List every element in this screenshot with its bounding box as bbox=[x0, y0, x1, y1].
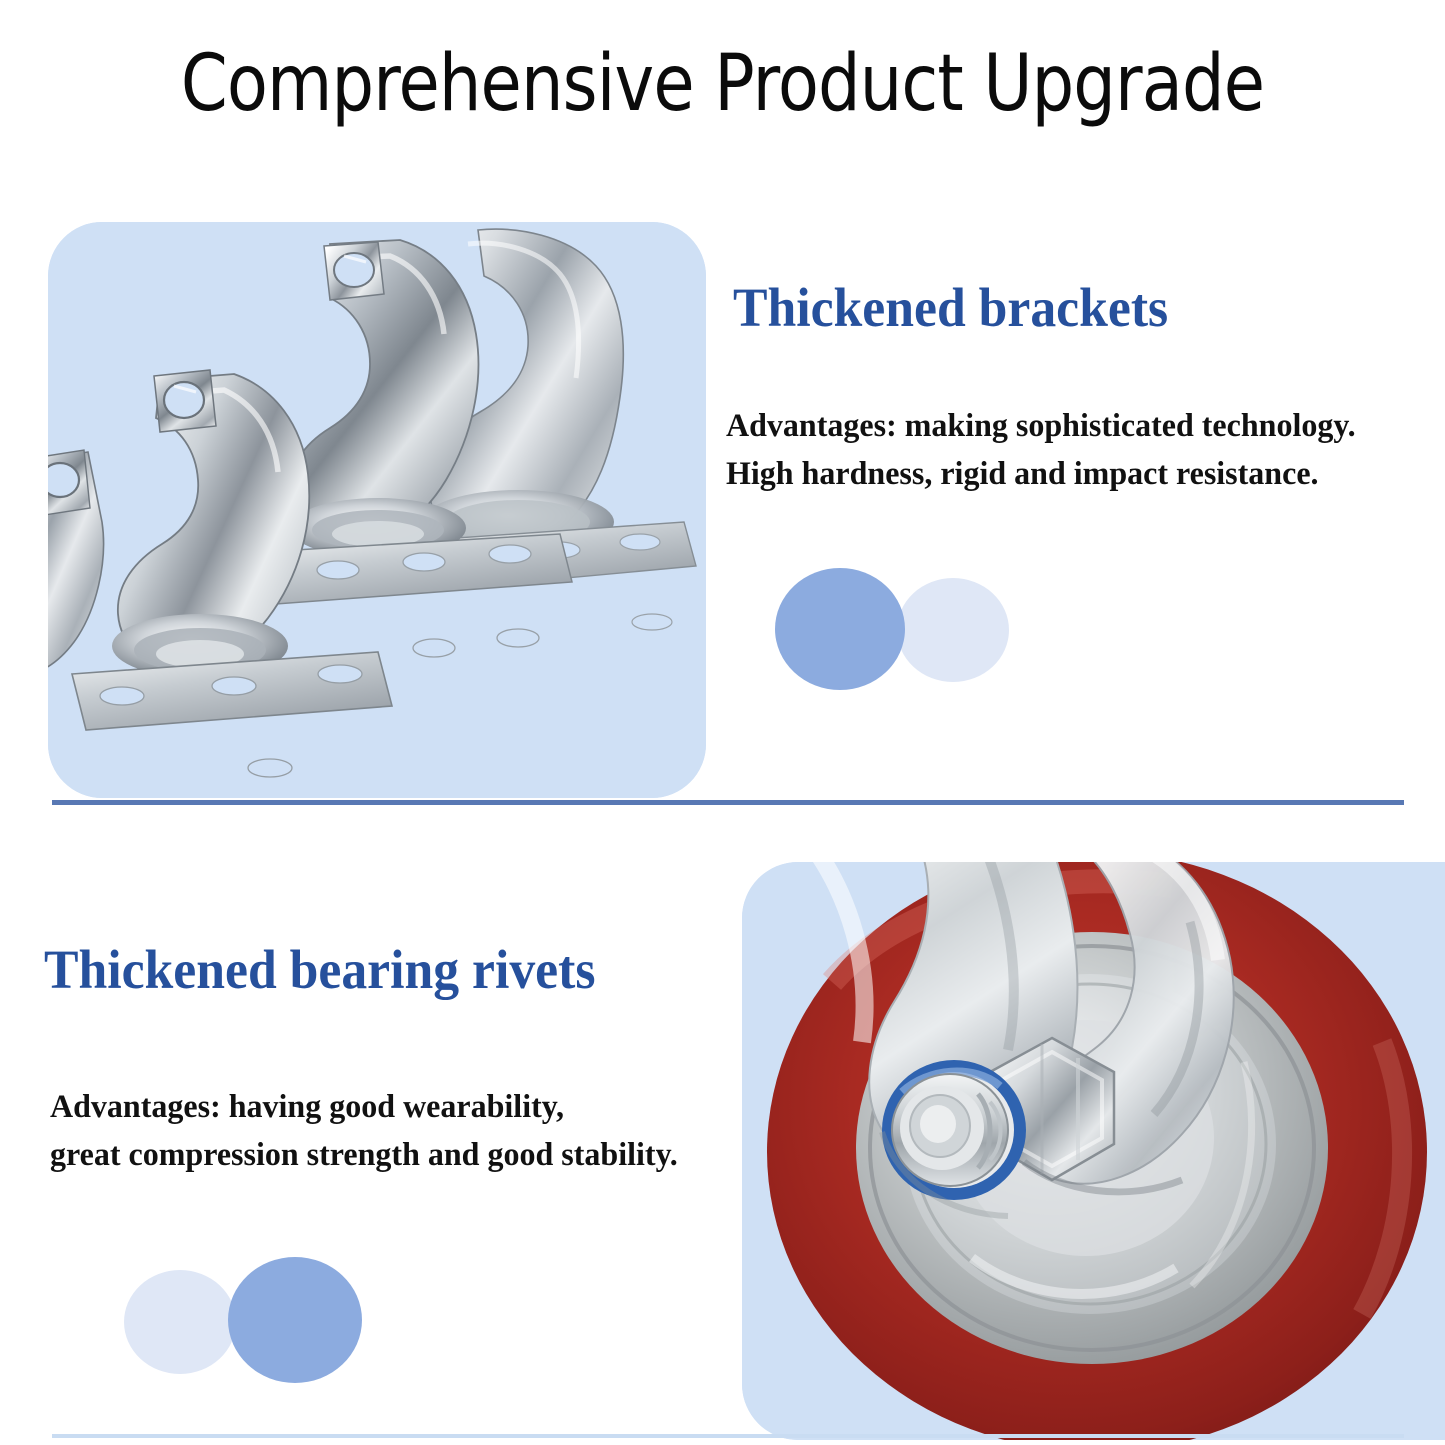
decorative-dot-blue bbox=[228, 1257, 362, 1383]
caster-brackets-photo bbox=[48, 222, 706, 798]
body-line: Advantages: making sophisticated technol… bbox=[726, 402, 1356, 450]
body-line: Advantages: having good wearability, bbox=[50, 1083, 678, 1131]
page-title: Comprehensive Product Upgrade bbox=[101, 36, 1344, 132]
bearing-rivet-photo bbox=[742, 862, 1445, 1440]
body-line: great compression strength and good stab… bbox=[50, 1131, 678, 1179]
decorative-dot-pale bbox=[897, 578, 1009, 682]
section-heading-thickened-bearing-rivets: Thickened bearing rivets bbox=[44, 940, 595, 1000]
body-line: High hardness, rigid and impact resistan… bbox=[726, 450, 1356, 498]
decorative-dot-pale bbox=[124, 1270, 236, 1374]
section-heading-thickened-brackets: Thickened brackets bbox=[733, 278, 1168, 338]
bottom-rule bbox=[52, 1434, 1404, 1438]
section-body-thickened-brackets: Advantages: making sophisticated technol… bbox=[726, 402, 1356, 498]
decorative-dot-blue bbox=[775, 568, 905, 690]
section-body-thickened-bearing-rivets: Advantages: having good wearability, gre… bbox=[50, 1083, 678, 1179]
section-divider bbox=[52, 800, 1404, 805]
infographic-page: Comprehensive Product Upgrade bbox=[0, 0, 1445, 1445]
